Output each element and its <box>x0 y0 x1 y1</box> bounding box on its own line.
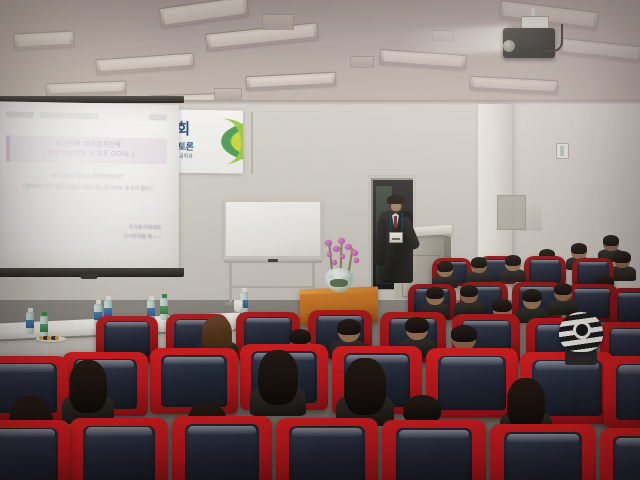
seat-highlight <box>106 322 148 328</box>
auditorium-seat[interactable] <box>0 420 70 480</box>
seat-highlight <box>579 262 608 266</box>
audience-member <box>336 360 394 420</box>
auditorium-seat[interactable] <box>172 416 272 480</box>
auditorium-seat[interactable] <box>610 288 640 326</box>
auditorium-seat[interactable] <box>382 420 486 480</box>
person-short-hair <box>471 257 487 268</box>
seat-highlight <box>618 365 640 374</box>
person-short-hair <box>426 287 445 299</box>
audience-member <box>432 262 458 286</box>
striped-beanie-hat <box>559 312 603 352</box>
seat-highlight <box>531 260 560 264</box>
seat-highlight <box>0 429 55 438</box>
seat-highlight <box>0 364 54 372</box>
seat-highlight <box>618 293 640 298</box>
auditorium-seat[interactable] <box>604 356 640 428</box>
audience-member <box>454 286 484 314</box>
person-short-hair <box>571 243 587 254</box>
seat-highlight <box>188 426 256 436</box>
seat-highlight <box>86 427 153 436</box>
person-short-hair <box>460 285 479 297</box>
person-short-hair <box>405 317 429 333</box>
auditorium-seat[interactable] <box>600 428 640 480</box>
person-long-hair <box>69 360 107 413</box>
person-short-hair <box>403 395 441 423</box>
seat-highlight <box>246 318 290 324</box>
person-short-hair <box>492 299 512 312</box>
seat-highlight <box>399 430 470 440</box>
person-short-hair <box>289 329 312 344</box>
person-long-hair <box>344 358 386 415</box>
audience-member <box>500 256 526 280</box>
auditorium-seat[interactable] <box>276 418 378 480</box>
seat-highlight <box>441 357 504 366</box>
audience-member <box>62 362 114 418</box>
audience-member <box>516 290 548 320</box>
seat-highlight <box>574 289 609 294</box>
person-short-hair <box>337 319 361 335</box>
seat-highlight <box>507 434 579 444</box>
person-short-hair <box>522 289 542 302</box>
person-short-hair <box>451 325 476 342</box>
person-long-hair <box>507 378 545 429</box>
person-short-hair <box>554 283 573 295</box>
person-long-hair <box>258 350 299 405</box>
lecture-hall-photo: 수회 전탁토론 급 한평공학과 자신만의 미래설계전략 ( 비전 VISION … <box>0 0 640 480</box>
audience-member <box>250 352 306 410</box>
person-short-hair <box>437 261 453 272</box>
auditorium-seat[interactable] <box>70 418 168 480</box>
audience-seating <box>0 0 640 480</box>
seat-highlight <box>616 438 640 448</box>
seat-highlight <box>292 428 361 438</box>
audience-member <box>466 258 492 282</box>
seat-highlight <box>164 357 224 366</box>
audience-member <box>548 284 578 312</box>
person-short-hair <box>505 255 521 266</box>
person-shoulders <box>500 269 526 282</box>
person-short-hair <box>603 235 619 246</box>
auditorium-seat[interactable] <box>490 424 596 480</box>
seat-highlight <box>611 329 640 336</box>
beanie-eye-motif <box>576 324 588 336</box>
person-short-hair <box>613 251 631 263</box>
